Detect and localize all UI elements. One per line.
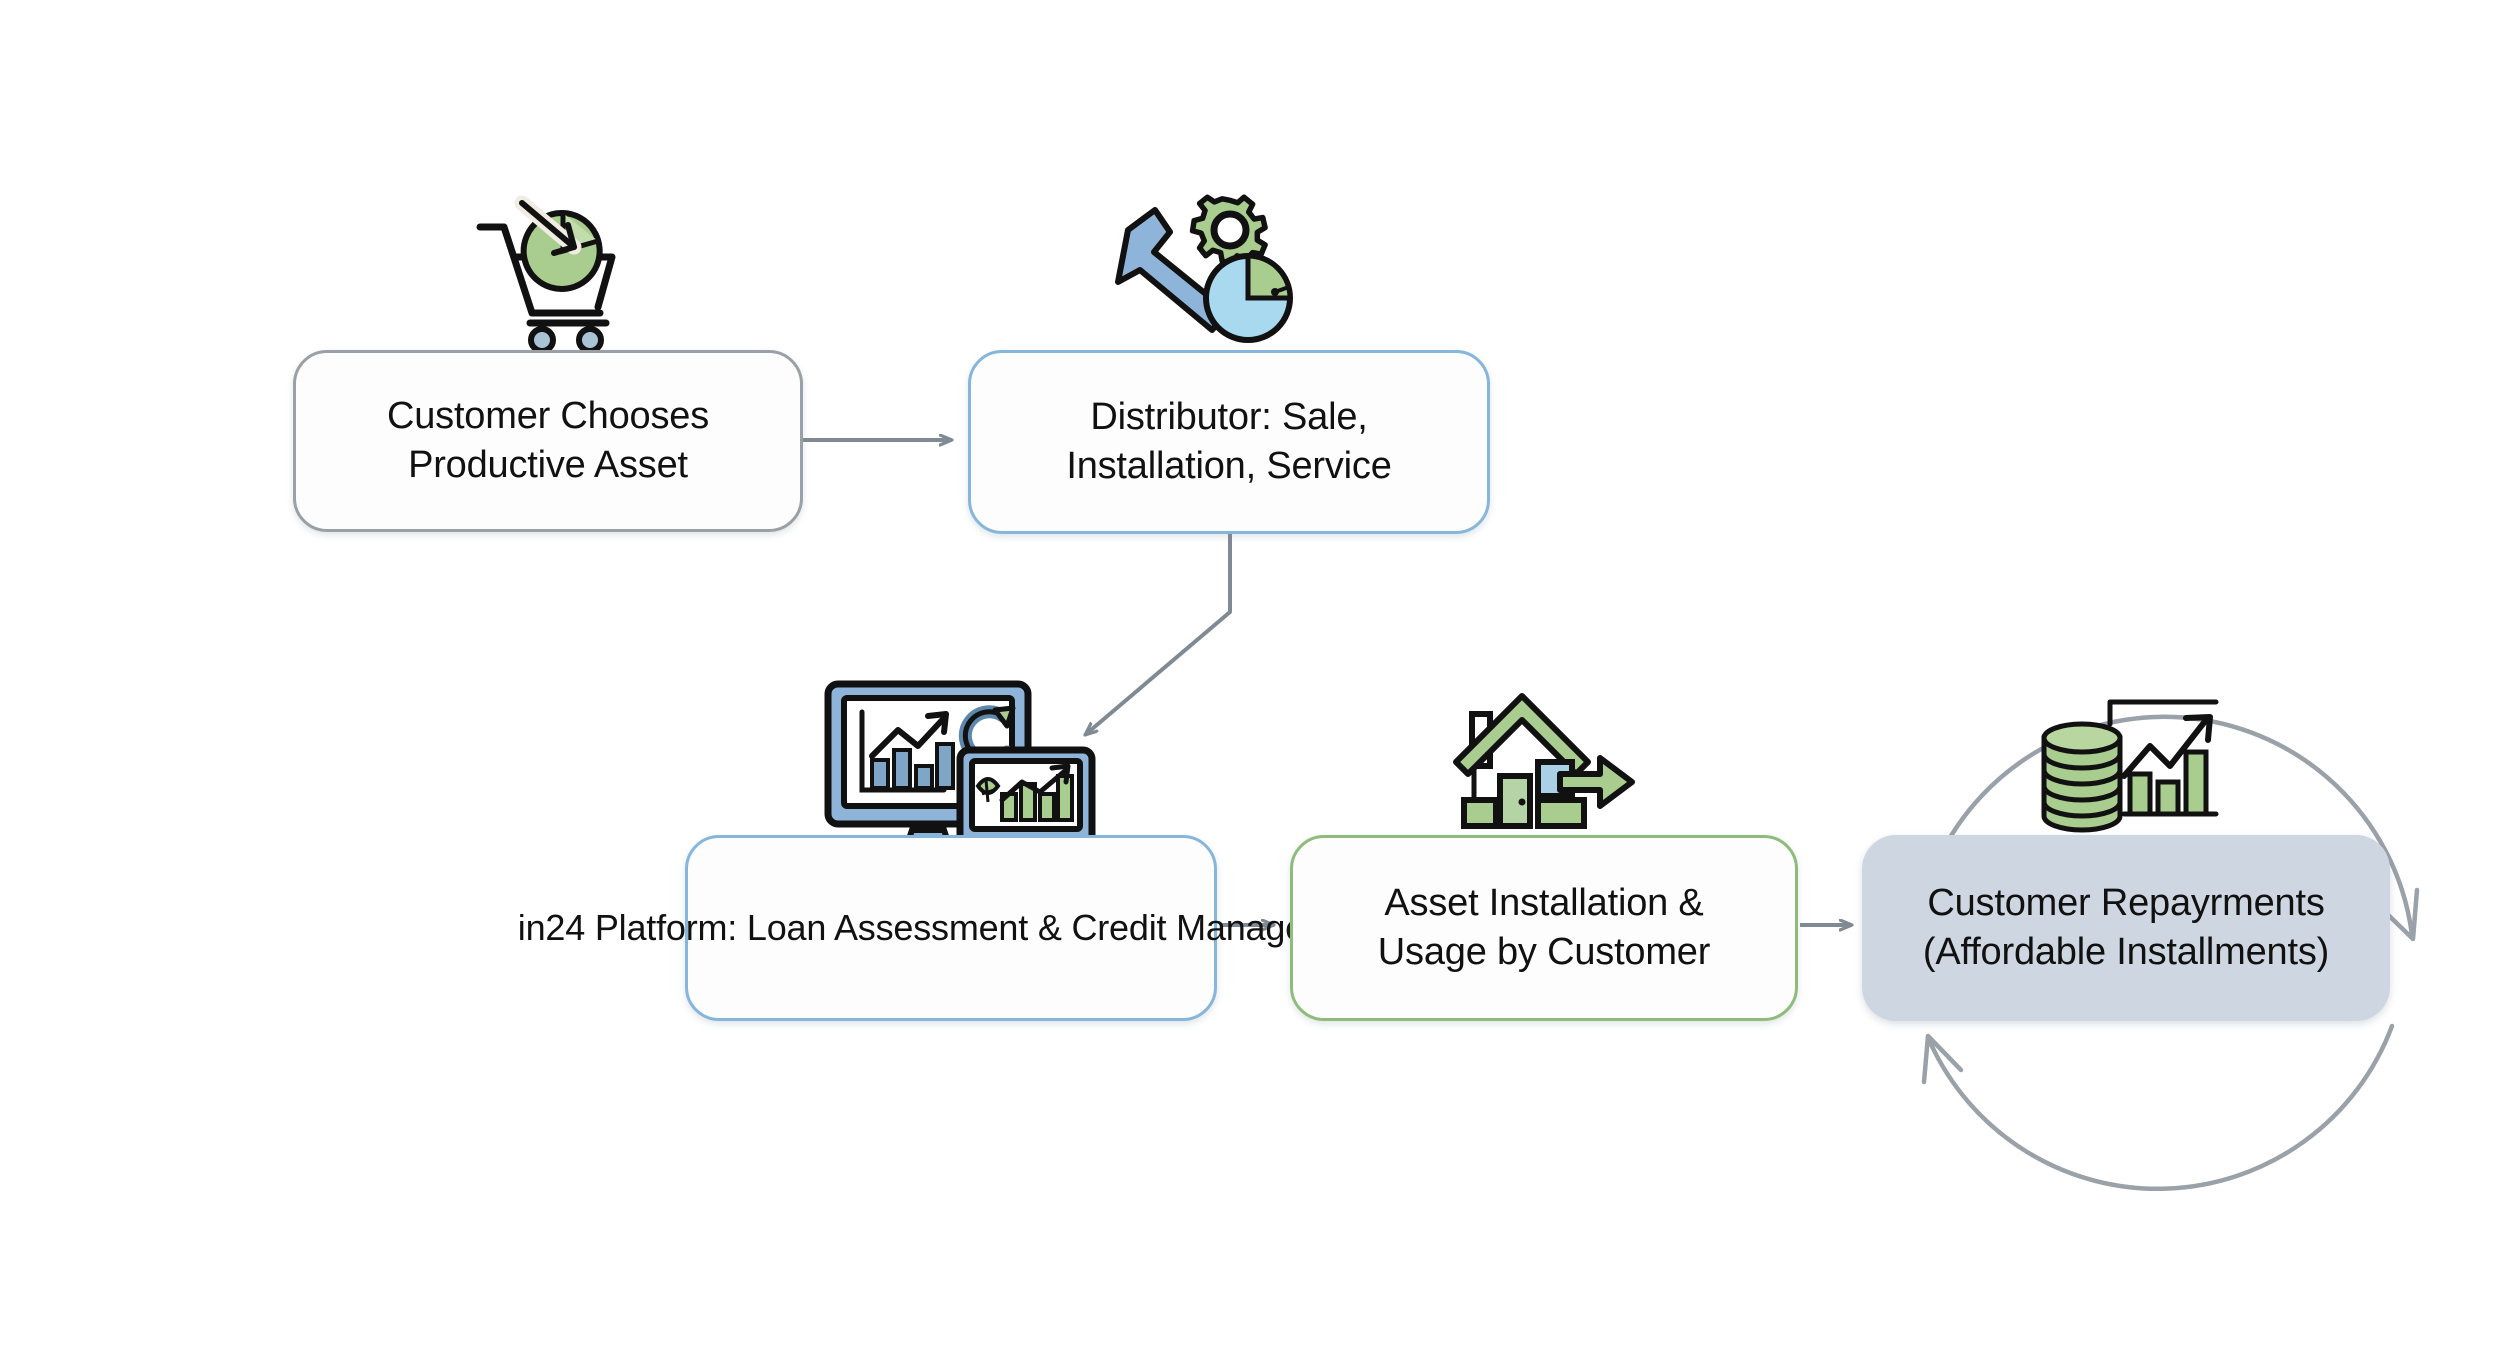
node-distributor[interactable]: Distributor: Sale, Installation, Service xyxy=(968,350,1490,534)
node-label: Distributor: Sale, Installation, Service xyxy=(1066,393,1391,492)
house-arrow-icon xyxy=(1452,690,1642,845)
node-in24-platform[interactable]: in24 Platform: Loan Assessment & Credit … xyxy=(685,835,1217,1021)
dual-monitor-analytics-icon xyxy=(820,678,1100,858)
node-customer-repayments[interactable]: Customer Repayrments (Affordable Install… xyxy=(1862,835,2390,1021)
node-label: Customer Repayrments (Affordable Install… xyxy=(1923,879,2329,978)
shopping-cart-icon xyxy=(470,195,640,355)
node-asset-installation[interactable]: Asset Installation & Usage by Customer xyxy=(1290,835,1798,1021)
node-label: Customer Chooses Productive Asset xyxy=(387,392,709,491)
wrench-gear-piechart-icon xyxy=(1110,190,1320,355)
node-label: Asset Installation & Usage by Customer xyxy=(1378,879,1710,978)
node-customer-chooses-asset[interactable]: Customer Chooses Productive Asset xyxy=(293,350,803,532)
edge-distributor-to-platform xyxy=(1085,534,1230,735)
diagram-canvas: Customer Chooses Productive Asset Distri… xyxy=(0,0,2500,1364)
coin-stack-growth-icon xyxy=(2030,690,2240,850)
node-label: in24 Platform: Loan Assessment & Credit … xyxy=(518,905,1384,952)
